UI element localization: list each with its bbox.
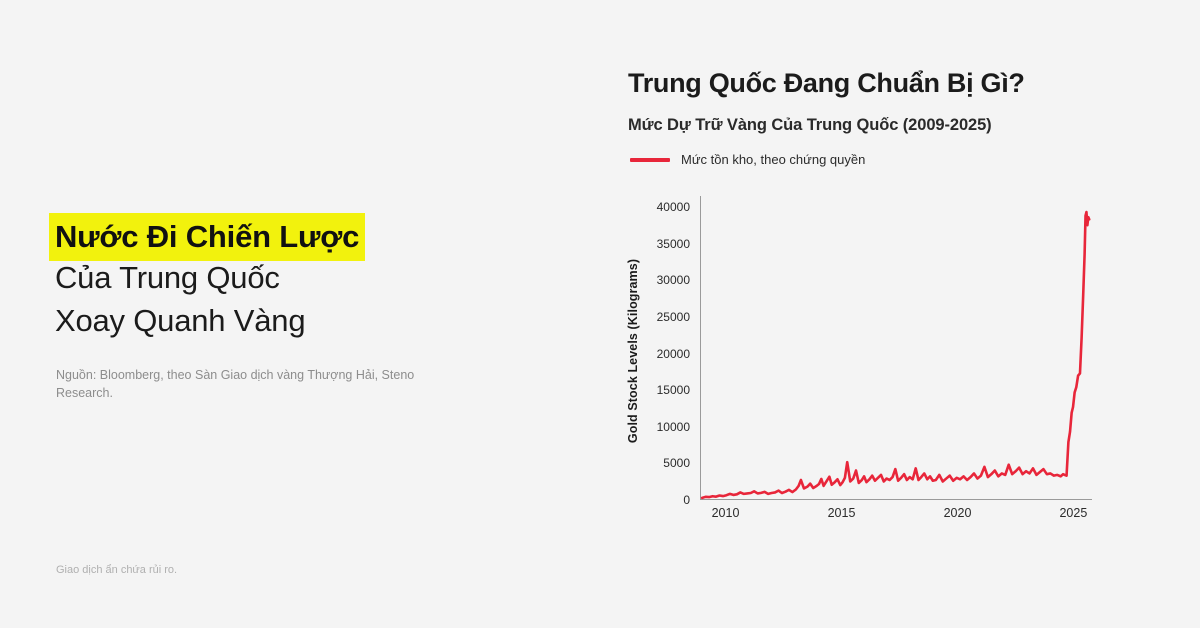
plot-area: [700, 196, 1092, 500]
headline-row-2: Của Trung Quốc: [55, 256, 555, 299]
left-panel: Nước Đi Chiến Lược Của Trung Quốc Xoay Q…: [0, 0, 600, 628]
y-tick-label: 30000: [657, 273, 690, 287]
chart-subtitle: Mức Dự Trữ Vàng Của Trung Quốc (2009-202…: [628, 116, 992, 135]
y-axis-title: Gold Stock Levels (Kilograms): [623, 196, 643, 506]
headline-block: Nước Đi Chiến Lược Của Trung Quốc Xoay Q…: [55, 213, 555, 342]
right-panel: Trung Quốc Đang Chuẩn Bị Gì? Mức Dự Trữ …: [600, 0, 1200, 628]
legend-label: Mức tồn kho, theo chứng quyền: [681, 152, 865, 167]
x-tick-label: 2020: [944, 506, 972, 520]
chart-legend: Mức tồn kho, theo chứng quyền: [630, 152, 865, 167]
x-tick-label: 2010: [712, 506, 740, 520]
y-tick-label: 5000: [663, 456, 690, 470]
headline-line-3: Xoay Quanh Vàng: [55, 303, 305, 338]
risk-disclaimer: Giao dịch ẩn chứa rủi ro.: [56, 562, 177, 578]
y-axis-ticks: 0500010000150002000025000300003500040000: [645, 196, 697, 500]
source-note: Nguồn: Bloomberg, theo Sàn Giao dịch vàn…: [56, 366, 451, 402]
gold-stock-line-chart: [701, 196, 1092, 499]
x-tick-label: 2025: [1059, 506, 1087, 520]
y-axis-title-text: Gold Stock Levels (Kilograms): [626, 259, 640, 443]
x-tick-label: 2015: [828, 506, 856, 520]
y-tick-label: 20000: [657, 347, 690, 361]
headline-row-1: Nước Đi Chiến Lược: [55, 213, 555, 256]
series-line-muc-ton-kho: [702, 212, 1089, 498]
headline-line-2: Của Trung Quốc: [55, 260, 280, 295]
y-tick-label: 0: [683, 493, 690, 507]
y-tick-label: 25000: [657, 310, 690, 324]
legend-line-swatch: [630, 158, 670, 162]
y-tick-label: 40000: [657, 200, 690, 214]
chart-title: Trung Quốc Đang Chuẩn Bị Gì?: [628, 68, 1025, 99]
x-axis-ticks: 2010201520202025: [700, 502, 1092, 526]
headline-highlight: Nước Đi Chiến Lược: [49, 213, 365, 261]
y-tick-label: 35000: [657, 237, 690, 251]
y-tick-label: 10000: [657, 420, 690, 434]
headline-row-3: Xoay Quanh Vàng: [55, 299, 555, 342]
y-tick-label: 15000: [657, 383, 690, 397]
chart-plot: Gold Stock Levels (Kilograms) 0500010000…: [625, 196, 1135, 526]
